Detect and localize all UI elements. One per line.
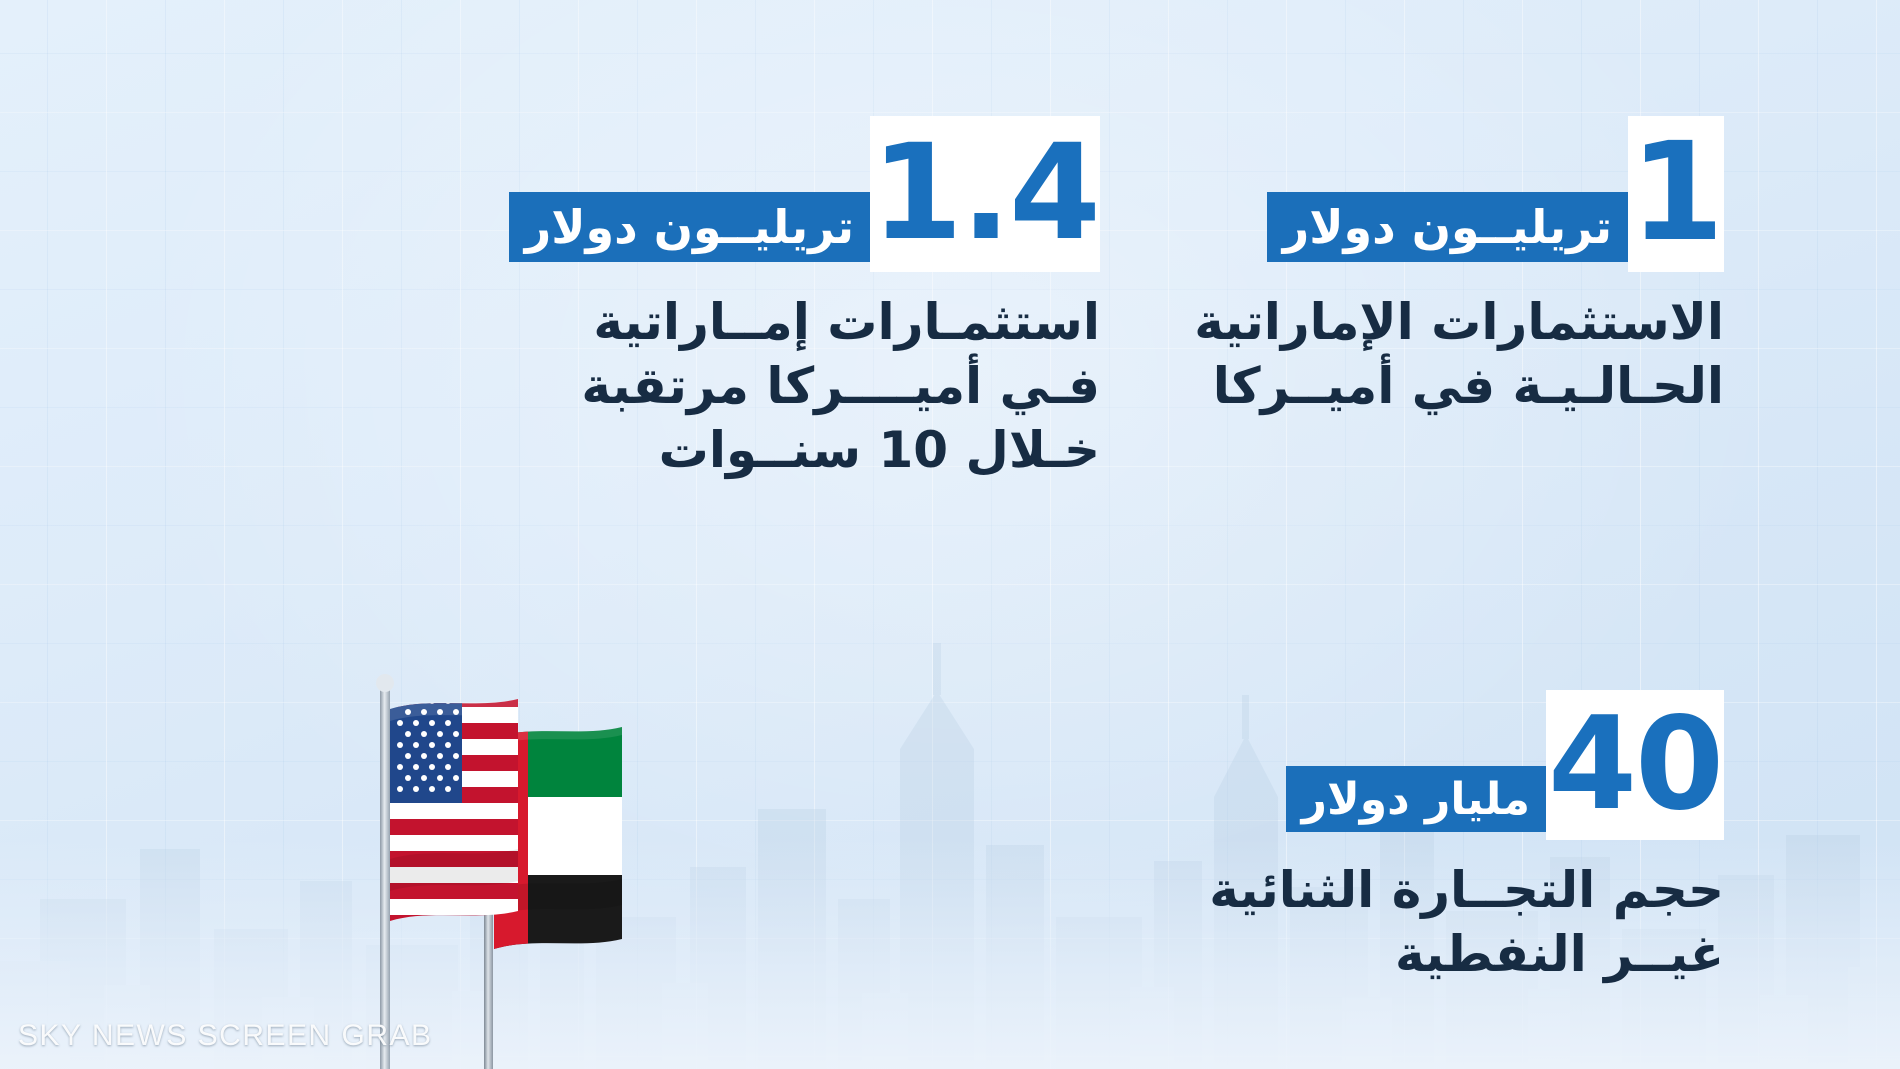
stat-unit-current: تريليــون دولار <box>1267 192 1628 262</box>
stat-block-bilateral-trade: 40 مليار دولار حجم التجــارة الثنائية غي… <box>1209 690 1724 986</box>
stat-head: 1.4 تريليــون دولار <box>509 116 1100 272</box>
stat-unit-trade: مليار دولار <box>1286 766 1546 832</box>
stat-caption-trade: حجم التجــارة الثنائية غيــر النفطية <box>1209 858 1724 986</box>
stat-block-current-investments: 1 تريليــون دولار الاستثمارات الإماراتية… <box>1194 116 1724 418</box>
stat-number-trade: 40 <box>1546 690 1724 840</box>
flags-group <box>282 559 682 1069</box>
stat-caption-current: الاستثمارات الإماراتية الحـالـيـة في أمي… <box>1194 290 1724 418</box>
stat-caption-future: استثمـارات إمــاراتية فـي أميــــركا مرت… <box>509 290 1100 482</box>
stat-head: 40 مليار دولار <box>1209 690 1724 840</box>
stat-number-future: 1.4 <box>870 116 1100 272</box>
stat-unit-future: تريليــون دولار <box>509 192 870 262</box>
stat-block-future-investments: 1.4 تريليــون دولار استثمـارات إمــاراتي… <box>509 116 1100 482</box>
watermark-label: SKY NEWS SCREEN GRAB <box>18 1019 433 1053</box>
stat-head: 1 تريليــون دولار <box>1194 116 1724 272</box>
stat-number-current: 1 <box>1628 116 1724 272</box>
